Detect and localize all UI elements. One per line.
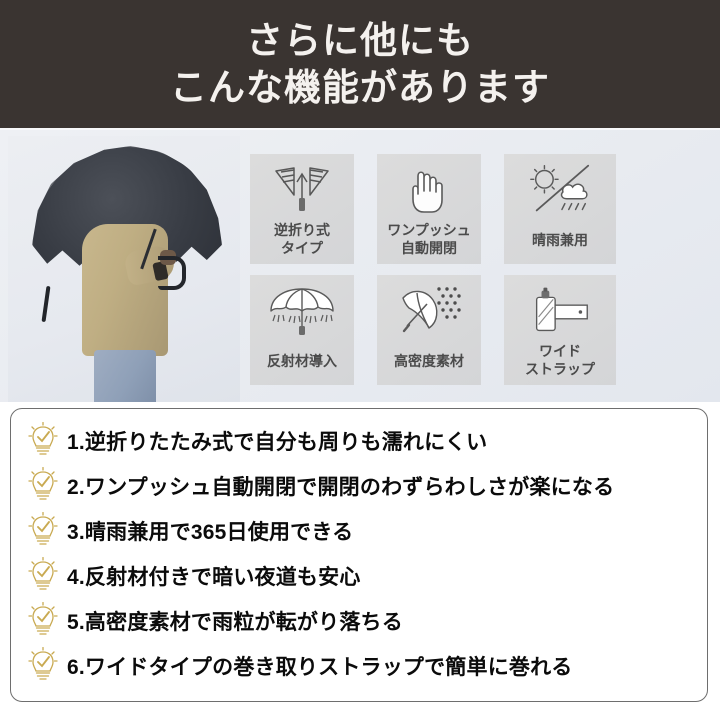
- lightbulb-check-icon: [23, 510, 63, 552]
- benefits-panel: 1.逆折りたたみ式で自分も周りも濡れにくい 2.ワンプッシュ自動開閉で開閉のわず…: [10, 408, 708, 702]
- feature-tile-label: 反射材導入: [267, 353, 337, 371]
- header-banner: さらに他にも こんな機能があります: [0, 0, 720, 128]
- header-title-line1: さらに他にも: [246, 18, 474, 63]
- lightbulb-check-icon: [23, 555, 63, 597]
- sun-cloud-icon: [524, 162, 596, 218]
- benefit-text: 1.逆折りたたみ式で自分も周りも濡れにくい: [67, 426, 487, 456]
- feature-tile-reflective[interactable]: 反射材導入: [250, 275, 354, 385]
- umbrella-handle: [158, 256, 186, 290]
- list-item: 3.晴雨兼用で365日使用できる: [23, 508, 697, 553]
- feature-tile-sun-rain[interactable]: 晴雨兼用: [504, 154, 616, 264]
- feature-tile-row-top: 逆折り式 タイプ ワンプッシュ 自動開閉: [250, 154, 712, 264]
- lightbulb-check-icon: [23, 645, 63, 687]
- feature-tile-one-push[interactable]: ワンプッシュ 自動開閉: [377, 154, 481, 264]
- folded-umbrella-strap-icon: [524, 283, 596, 339]
- pointing-hand-icon: [393, 162, 465, 218]
- feature-tile-label: 高密度素材: [394, 353, 464, 371]
- feature-tile-label: 晴雨兼用: [532, 232, 588, 250]
- lightbulb-check-icon: [23, 420, 63, 462]
- lightbulb-check-icon: [23, 465, 63, 507]
- reflective-umbrella-icon: [266, 283, 338, 339]
- person-jeans: [94, 350, 156, 402]
- benefit-text: 4.反射材付きで暗い夜道も安心: [67, 561, 361, 591]
- header-title-line2: こんな機能があります: [170, 65, 550, 110]
- feature-tile-high-density[interactable]: 高密度素材: [377, 275, 481, 385]
- feature-tile-label: ワンプッシュ 自動開閉: [387, 222, 471, 257]
- product-photo: [8, 136, 240, 402]
- infographic-page: さらに他にも こんな機能があります: [0, 0, 720, 711]
- list-item: 6.ワイドタイプの巻き取りストラップで簡単に巻れる: [23, 643, 697, 688]
- list-item: 5.高密度素材で雨粒が転がり落ちる: [23, 598, 697, 643]
- feature-tile-grid: 逆折り式 タイプ ワンプッシュ 自動開閉: [250, 154, 712, 396]
- feature-tile-label: ワイド ストラップ: [525, 343, 595, 378]
- feature-tile-reverse-fold[interactable]: 逆折り式 タイプ: [250, 154, 354, 264]
- benefit-text: 6.ワイドタイプの巻き取りストラップで簡単に巻れる: [67, 651, 573, 681]
- feature-showcase-section: 逆折り式 タイプ ワンプッシュ 自動開閉: [0, 128, 720, 402]
- feature-tile-row-bottom: 反射材導入: [250, 275, 712, 385]
- umbrella-raindrops-icon: [393, 283, 465, 339]
- feature-tile-label: 逆折り式 タイプ: [274, 222, 330, 257]
- feature-tile-wide-strap[interactable]: ワイド ストラップ: [504, 275, 616, 385]
- lightbulb-check-icon: [23, 600, 63, 642]
- benefit-text: 5.高密度素材で雨粒が転がり落ちる: [67, 606, 403, 636]
- list-item: 2.ワンプッシュ自動開閉で開閉のわずらわしさが楽になる: [23, 463, 697, 508]
- reverse-umbrella-icon: [266, 162, 338, 218]
- person-jacket: [82, 224, 168, 356]
- benefit-text: 3.晴雨兼用で365日使用できる: [67, 516, 353, 546]
- benefit-text: 2.ワンプッシュ自動開閉で開閉のわずらわしさが楽になる: [67, 471, 614, 501]
- list-item: 4.反射材付きで暗い夜道も安心: [23, 553, 697, 598]
- list-item: 1.逆折りたたみ式で自分も周りも濡れにくい: [23, 418, 697, 463]
